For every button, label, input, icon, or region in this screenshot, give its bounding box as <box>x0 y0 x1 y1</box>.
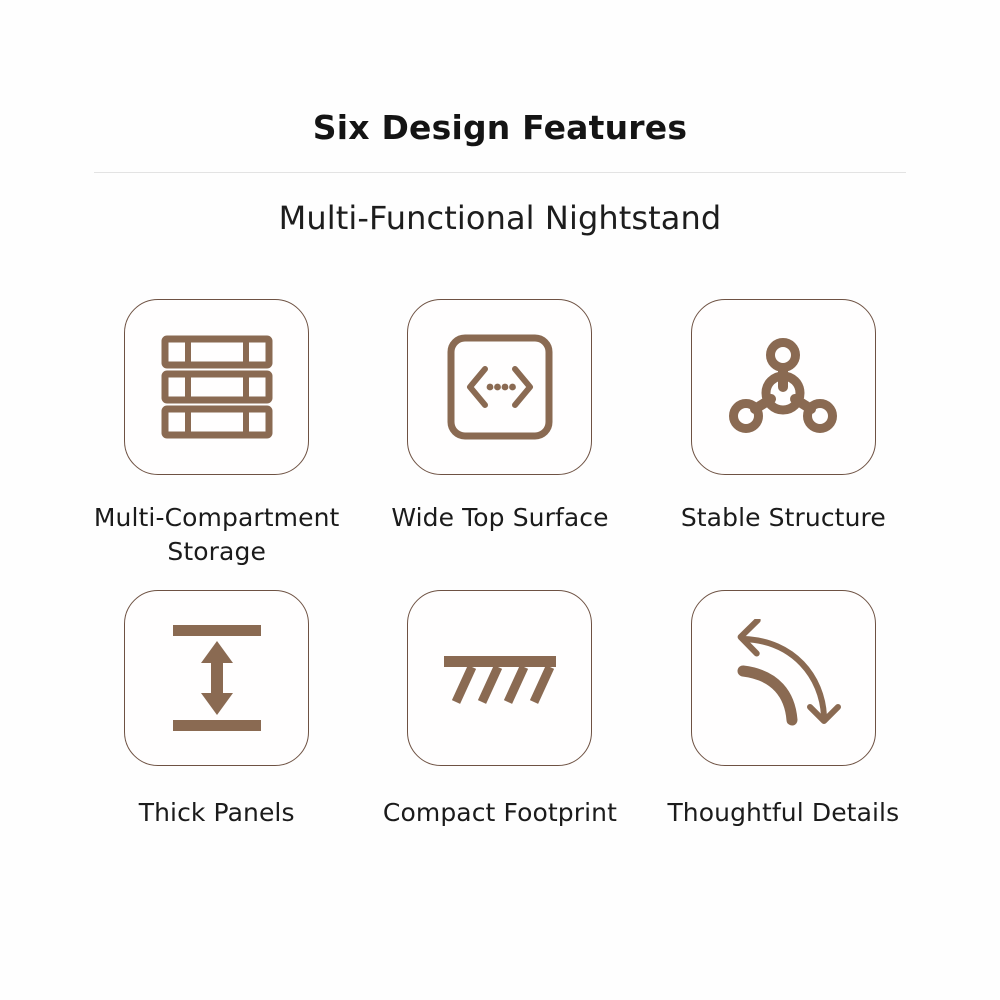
drawers-icon <box>157 331 277 443</box>
feature-item-wide-top-surface: Wide Top Surface <box>358 299 641 569</box>
feature-item-thick-panels: Thick Panels <box>75 590 358 830</box>
feature-icon-tile <box>407 299 592 475</box>
feature-item-compact-footprint: Compact Footprint <box>358 590 641 830</box>
width-arrows-icon <box>444 331 556 443</box>
feature-icon-tile <box>691 590 876 766</box>
feature-label: Thick Panels <box>139 796 295 830</box>
molecule-structure-icon <box>724 331 842 443</box>
header: Six Design Features Multi-Functional Nig… <box>0 0 1000 237</box>
feature-icon-tile <box>124 299 309 475</box>
feature-icon-tile <box>691 299 876 475</box>
features-grid: Multi-Compartment Storage Wide Top Surf <box>0 299 1000 830</box>
header-divider <box>94 172 906 173</box>
feature-icon-tile <box>124 590 309 766</box>
feature-item-stable-structure: Stable Structure <box>642 299 925 569</box>
panel-thickness-icon <box>165 619 269 737</box>
feature-label: Multi-Compartment Storage <box>75 501 358 569</box>
feature-item-multi-compartment-storage: Multi-Compartment Storage <box>75 299 358 569</box>
feature-label: Wide Top Surface <box>391 501 608 535</box>
feature-label: Compact Footprint <box>383 796 617 830</box>
feature-label: Thoughtful Details <box>667 796 899 830</box>
feature-icon-tile <box>407 590 592 766</box>
feature-label: Stable Structure <box>681 501 886 535</box>
page-subtitle: Multi-Functional Nightstand <box>0 199 1000 237</box>
infographic-page: Six Design Features Multi-Functional Nig… <box>0 0 1000 1000</box>
curved-arrows-icon <box>724 619 842 737</box>
page-title: Six Design Features <box>0 108 1000 148</box>
feature-item-thoughtful-details: Thoughtful Details <box>642 590 925 830</box>
footprint-hatch-icon <box>438 636 562 720</box>
